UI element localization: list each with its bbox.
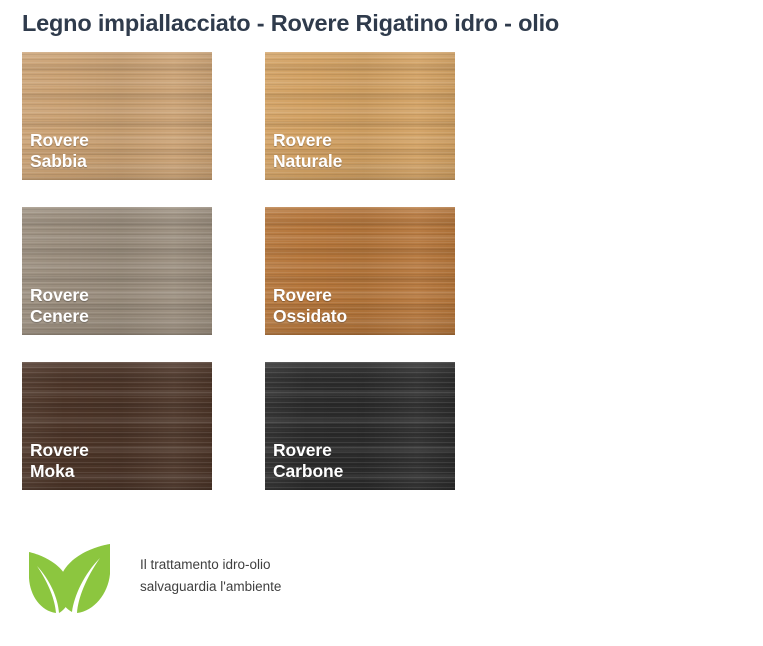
swatch-label: Rovere Carbone — [273, 440, 343, 481]
swatch-rovere-carbone[interactable]: Rovere Carbone — [265, 362, 455, 490]
color-swatch-page: Legno impiallacciato - Rovere Rigatino i… — [0, 0, 763, 646]
swatch-rovere-ossidato[interactable]: Rovere Ossidato — [265, 207, 455, 335]
leaf-icon — [24, 536, 116, 616]
eco-note: Il trattamento idro-olio salvaguardia l'… — [24, 536, 281, 616]
swatch-rovere-sabbia[interactable]: Rovere Sabbia — [22, 52, 212, 180]
eco-note-text: Il trattamento idro-olio salvaguardia l'… — [140, 554, 281, 598]
swatch-label: Rovere Ossidato — [273, 285, 347, 326]
swatch-label: Rovere Naturale — [273, 130, 342, 171]
swatch-label: Rovere Cenere — [30, 285, 89, 326]
swatch-rovere-naturale[interactable]: Rovere Naturale — [265, 52, 455, 180]
swatch-label: Rovere Sabbia — [30, 130, 89, 171]
swatch-rovere-cenere[interactable]: Rovere Cenere — [22, 207, 212, 335]
swatch-rovere-moka[interactable]: Rovere Moka — [22, 362, 212, 490]
swatch-label: Rovere Moka — [30, 440, 89, 481]
page-title: Legno impiallacciato - Rovere Rigatino i… — [22, 10, 559, 37]
